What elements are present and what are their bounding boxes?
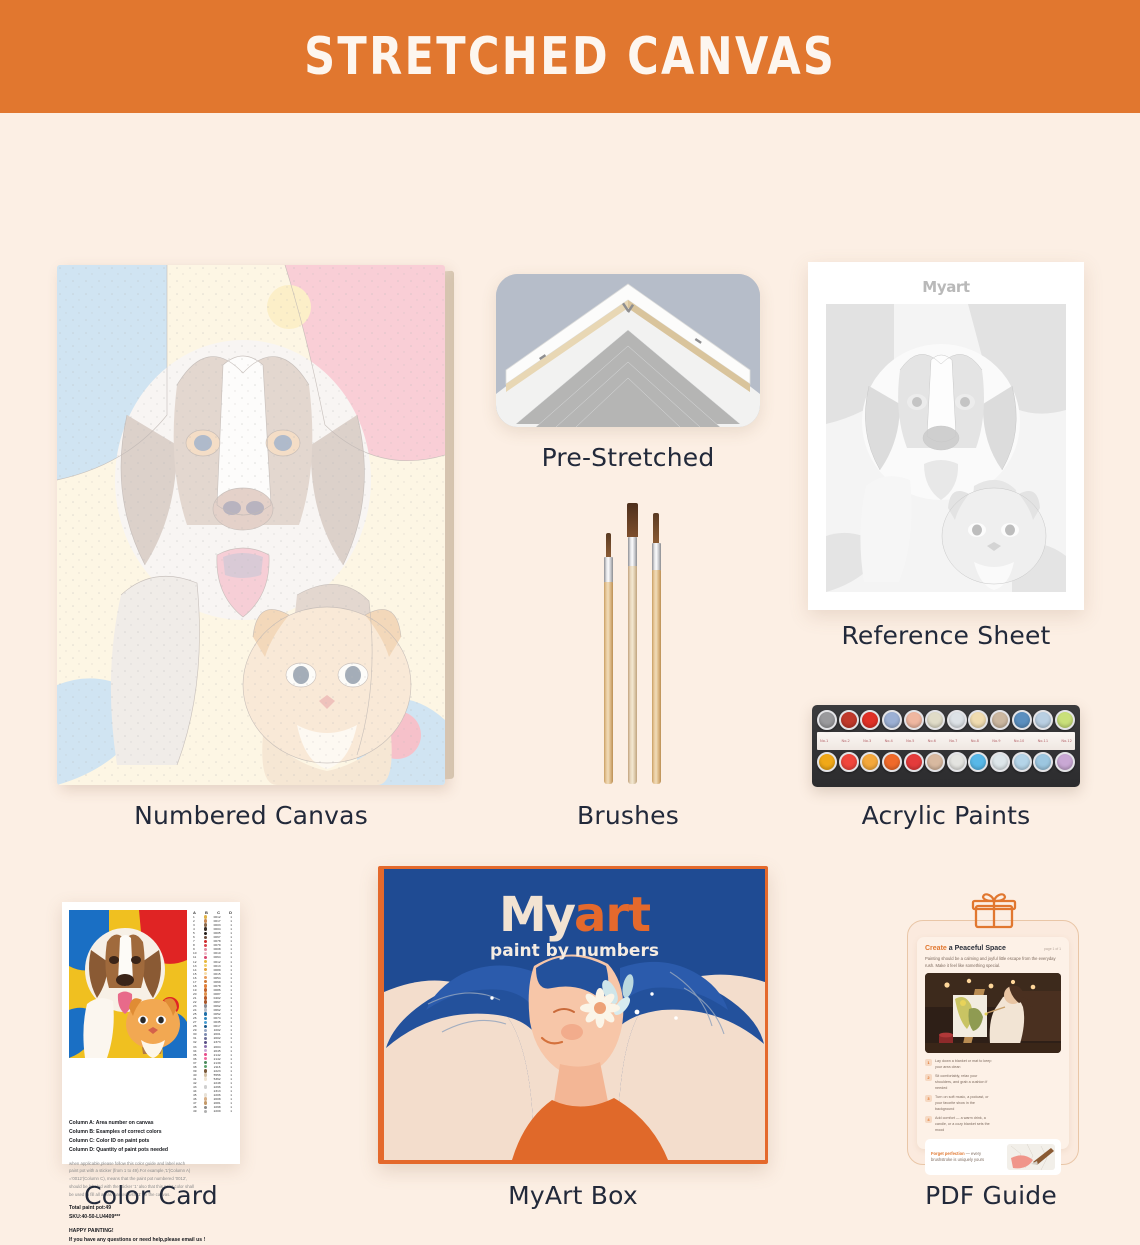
sku-text: SKU:40-50-LU4409***: [69, 1213, 233, 1222]
paint-pot[interactable]: [1033, 752, 1053, 772]
pdf-guide-page: Create a Peaceful Space page 1 of 1 Pain…: [917, 937, 1069, 1149]
brush-flat: [628, 503, 638, 785]
product-grid: Numbered Canvas Pre-Stretched: [0, 113, 1140, 1140]
paint-pot[interactable]: [1033, 710, 1053, 730]
color-card-product[interactable]: ABCD 10012120017130003140004150005160067…: [62, 902, 240, 1164]
reference-sheet-image: [826, 304, 1066, 592]
pdf-title-rest: a Peaceful Space: [947, 945, 1006, 952]
caption-acrylic-paints: Acrylic Paints: [808, 801, 1084, 830]
color-card-table: ABCD 10012120017130003140004150005160067…: [192, 910, 233, 1113]
paint-pot-code: No.5: [906, 739, 914, 743]
paint-pot[interactable]: [990, 752, 1010, 772]
paint-pot-code: No.10: [1014, 739, 1025, 743]
brush-ferrule: [652, 543, 661, 571]
table-row: 4922091: [192, 1109, 233, 1113]
color-card-artwork: [69, 910, 187, 1058]
paint-pot[interactable]: [839, 752, 859, 772]
pre-stretched-product[interactable]: [496, 274, 760, 427]
legend-line: Column B: Examples of correct colors: [69, 1128, 233, 1137]
paint-pot[interactable]: [925, 710, 945, 730]
paint-pot[interactable]: [817, 752, 837, 772]
pdf-tip-number: 1: [925, 1059, 932, 1066]
paint-pot[interactable]: [839, 710, 859, 730]
paint-pot-code: No.4: [885, 739, 893, 743]
pdf-tip-text: Sit comfortably, relax your shoulders, a…: [935, 1074, 995, 1092]
paint-pot-code: No.2: [842, 739, 850, 743]
paint-pot[interactable]: [1055, 752, 1075, 772]
paint-pot-code: No.12: [1061, 739, 1072, 743]
paint-pot[interactable]: [860, 710, 880, 730]
paint-pot[interactable]: [904, 752, 924, 772]
legend-line: Column A: Area number on canvas: [69, 1119, 233, 1128]
paint-pot[interactable]: [968, 752, 988, 772]
canvas-depth-side: [444, 271, 454, 780]
paint-row-top: [817, 710, 1075, 730]
legend-line: Column D: Quantity of paint pots needed: [69, 1146, 233, 1155]
pdf-intro-text: Painting should be a calming and joyful …: [925, 955, 1061, 969]
legend-line: Column C: Color ID on paint pots: [69, 1137, 233, 1146]
page-title: STRETCHED CANVAS: [304, 27, 836, 87]
reference-sheet-product[interactable]: Myart: [808, 262, 1084, 610]
paint-pot[interactable]: [1012, 710, 1032, 730]
pdf-tip-list: 1Lay down a blanket or mat to keep your …: [925, 1059, 1061, 1133]
logo-my-text: My: [499, 887, 574, 943]
paint-pot-code: No.9: [992, 739, 1000, 743]
caption-pre-stretched: Pre-Stretched: [496, 443, 760, 472]
reference-sheet-logo: Myart: [826, 278, 1066, 296]
logo-art-text: art: [574, 887, 650, 943]
pdf-guide-title: Create a Peaceful Space: [925, 945, 1006, 952]
help-text: If you have any questions or need help,p…: [69, 1236, 233, 1245]
pdf-tip-item: 3Turn on soft music, a podcast, or your …: [925, 1095, 995, 1113]
caption-color-card: Color Card: [40, 1181, 262, 1210]
paint-pot-code: No.8: [971, 739, 979, 743]
pdf-tip-text: Lay down a blanket or mat to keep your a…: [935, 1059, 995, 1071]
pdf-tip-item: 4Add comfort — a warm drink, a candle, o…: [925, 1116, 995, 1134]
numbered-canvas-product[interactable]: [57, 265, 445, 785]
caption-myart-box: MyArt Box: [378, 1181, 768, 1210]
pdf-footer-callout: Forget perfection — every brushstroke is…: [925, 1139, 1061, 1175]
brush-ferrule: [628, 537, 637, 567]
paint-tray-label: No.1No.2No.3No.4No.5No.6No.7No.8No.9No.1…: [817, 732, 1075, 750]
fine-print-line: paint pot with a sticker (from 1 to 49).…: [69, 1167, 233, 1175]
paint-pot-code: No.7: [949, 739, 957, 743]
paint-pot[interactable]: [968, 710, 988, 730]
happy-painting-text: HAPPY PAINTING!: [69, 1227, 233, 1236]
paint-pot-code: No.6: [928, 739, 936, 743]
paint-pot[interactable]: [882, 710, 902, 730]
cell-color-id: 2209: [211, 1109, 223, 1113]
pdf-footer-text: Forget perfection — every brushstroke is…: [931, 1151, 1002, 1164]
color-card-legend: Column A: Area number on canvasColumn B:…: [69, 1119, 233, 1155]
box-illustration: [384, 952, 765, 1160]
pdf-page-number: page 1 of 1: [1044, 947, 1061, 951]
pdf-tip-text: Add comfort — a warm drink, a candle, or…: [935, 1116, 995, 1134]
paint-pot[interactable]: [860, 752, 880, 772]
paint-pot[interactable]: [1055, 710, 1075, 730]
pdf-footer-thumb: [1007, 1144, 1055, 1170]
myart-logo: Myart: [384, 887, 765, 943]
cell-area-number: 49: [193, 1109, 200, 1113]
pdf-footer-accent: Forget perfection: [931, 1151, 965, 1156]
paint-pot-code: No.11: [1038, 739, 1049, 743]
paint-pot[interactable]: [817, 710, 837, 730]
caption-pdf-guide: PDF Guide: [880, 1181, 1102, 1210]
paint-pot-code: No.3: [863, 739, 871, 743]
brushes-product[interactable]: [586, 503, 676, 785]
pdf-tip-number: 4: [925, 1116, 932, 1123]
cell-quantity: 1: [227, 1109, 232, 1113]
caption-brushes: Brushes: [496, 801, 760, 830]
fine-print-line: when applicable,please follow this color…: [69, 1160, 233, 1168]
pdf-title-accent: Create: [925, 945, 947, 952]
brush-tip: [606, 533, 611, 557]
pdf-guide-product[interactable]: Create a Peaceful Space page 1 of 1 Pain…: [903, 893, 1083, 1165]
pdf-hero-photo: [925, 973, 1061, 1053]
box-front-face: Myart paint by numbers: [384, 869, 765, 1160]
box-tagline: paint by numbers: [384, 941, 765, 961]
brush-ferrule: [604, 557, 613, 583]
paint-pot[interactable]: [990, 710, 1010, 730]
brush-tip: [653, 513, 659, 543]
paint-row-bottom: [817, 752, 1075, 772]
canvas-artwork: [57, 265, 445, 785]
brush-handle: [652, 570, 661, 784]
caption-numbered-canvas: Numbered Canvas: [57, 801, 445, 830]
cell-color-swatch: [204, 1110, 207, 1113]
header-banner: STRETCHED CANVAS: [0, 0, 1140, 113]
paint-pot[interactable]: [904, 710, 924, 730]
pdf-tip-number: 2: [925, 1074, 932, 1081]
caption-reference-sheet: Reference Sheet: [808, 621, 1084, 650]
pdf-tip-item: 2Sit comfortably, relax your shoulders, …: [925, 1074, 995, 1092]
paint-pot-code: No.1: [820, 739, 828, 743]
brush-handle: [604, 582, 613, 784]
color-card-table-body: 1001212001713000314000415000516006717007…: [192, 915, 233, 1113]
pdf-tip-text: Turn on soft music, a podcast, or your f…: [935, 1095, 995, 1113]
brush-thin: [604, 533, 613, 785]
brush-tip: [627, 503, 638, 537]
paint-pot[interactable]: [947, 710, 967, 730]
acrylic-paints-product[interactable]: No.1No.2No.3No.4No.5No.6No.7No.8No.9No.1…: [812, 705, 1080, 787]
pdf-tip-item: 1Lay down a blanket or mat to keep your …: [925, 1059, 995, 1071]
paint-pot[interactable]: [1012, 752, 1032, 772]
pdf-tip-number: 3: [925, 1095, 932, 1102]
paint-pot[interactable]: [925, 752, 945, 772]
paint-pot[interactable]: [947, 752, 967, 772]
paint-pot[interactable]: [882, 752, 902, 772]
myart-box-product[interactable]: Myart paint by numbers: [378, 866, 768, 1164]
color-card-footer: Total paint pot:49 SKU:40-50-LU4409*** H…: [69, 1204, 233, 1245]
brush-round: [652, 513, 661, 785]
gift-icon: [971, 893, 1017, 929]
brush-handle: [628, 566, 637, 784]
